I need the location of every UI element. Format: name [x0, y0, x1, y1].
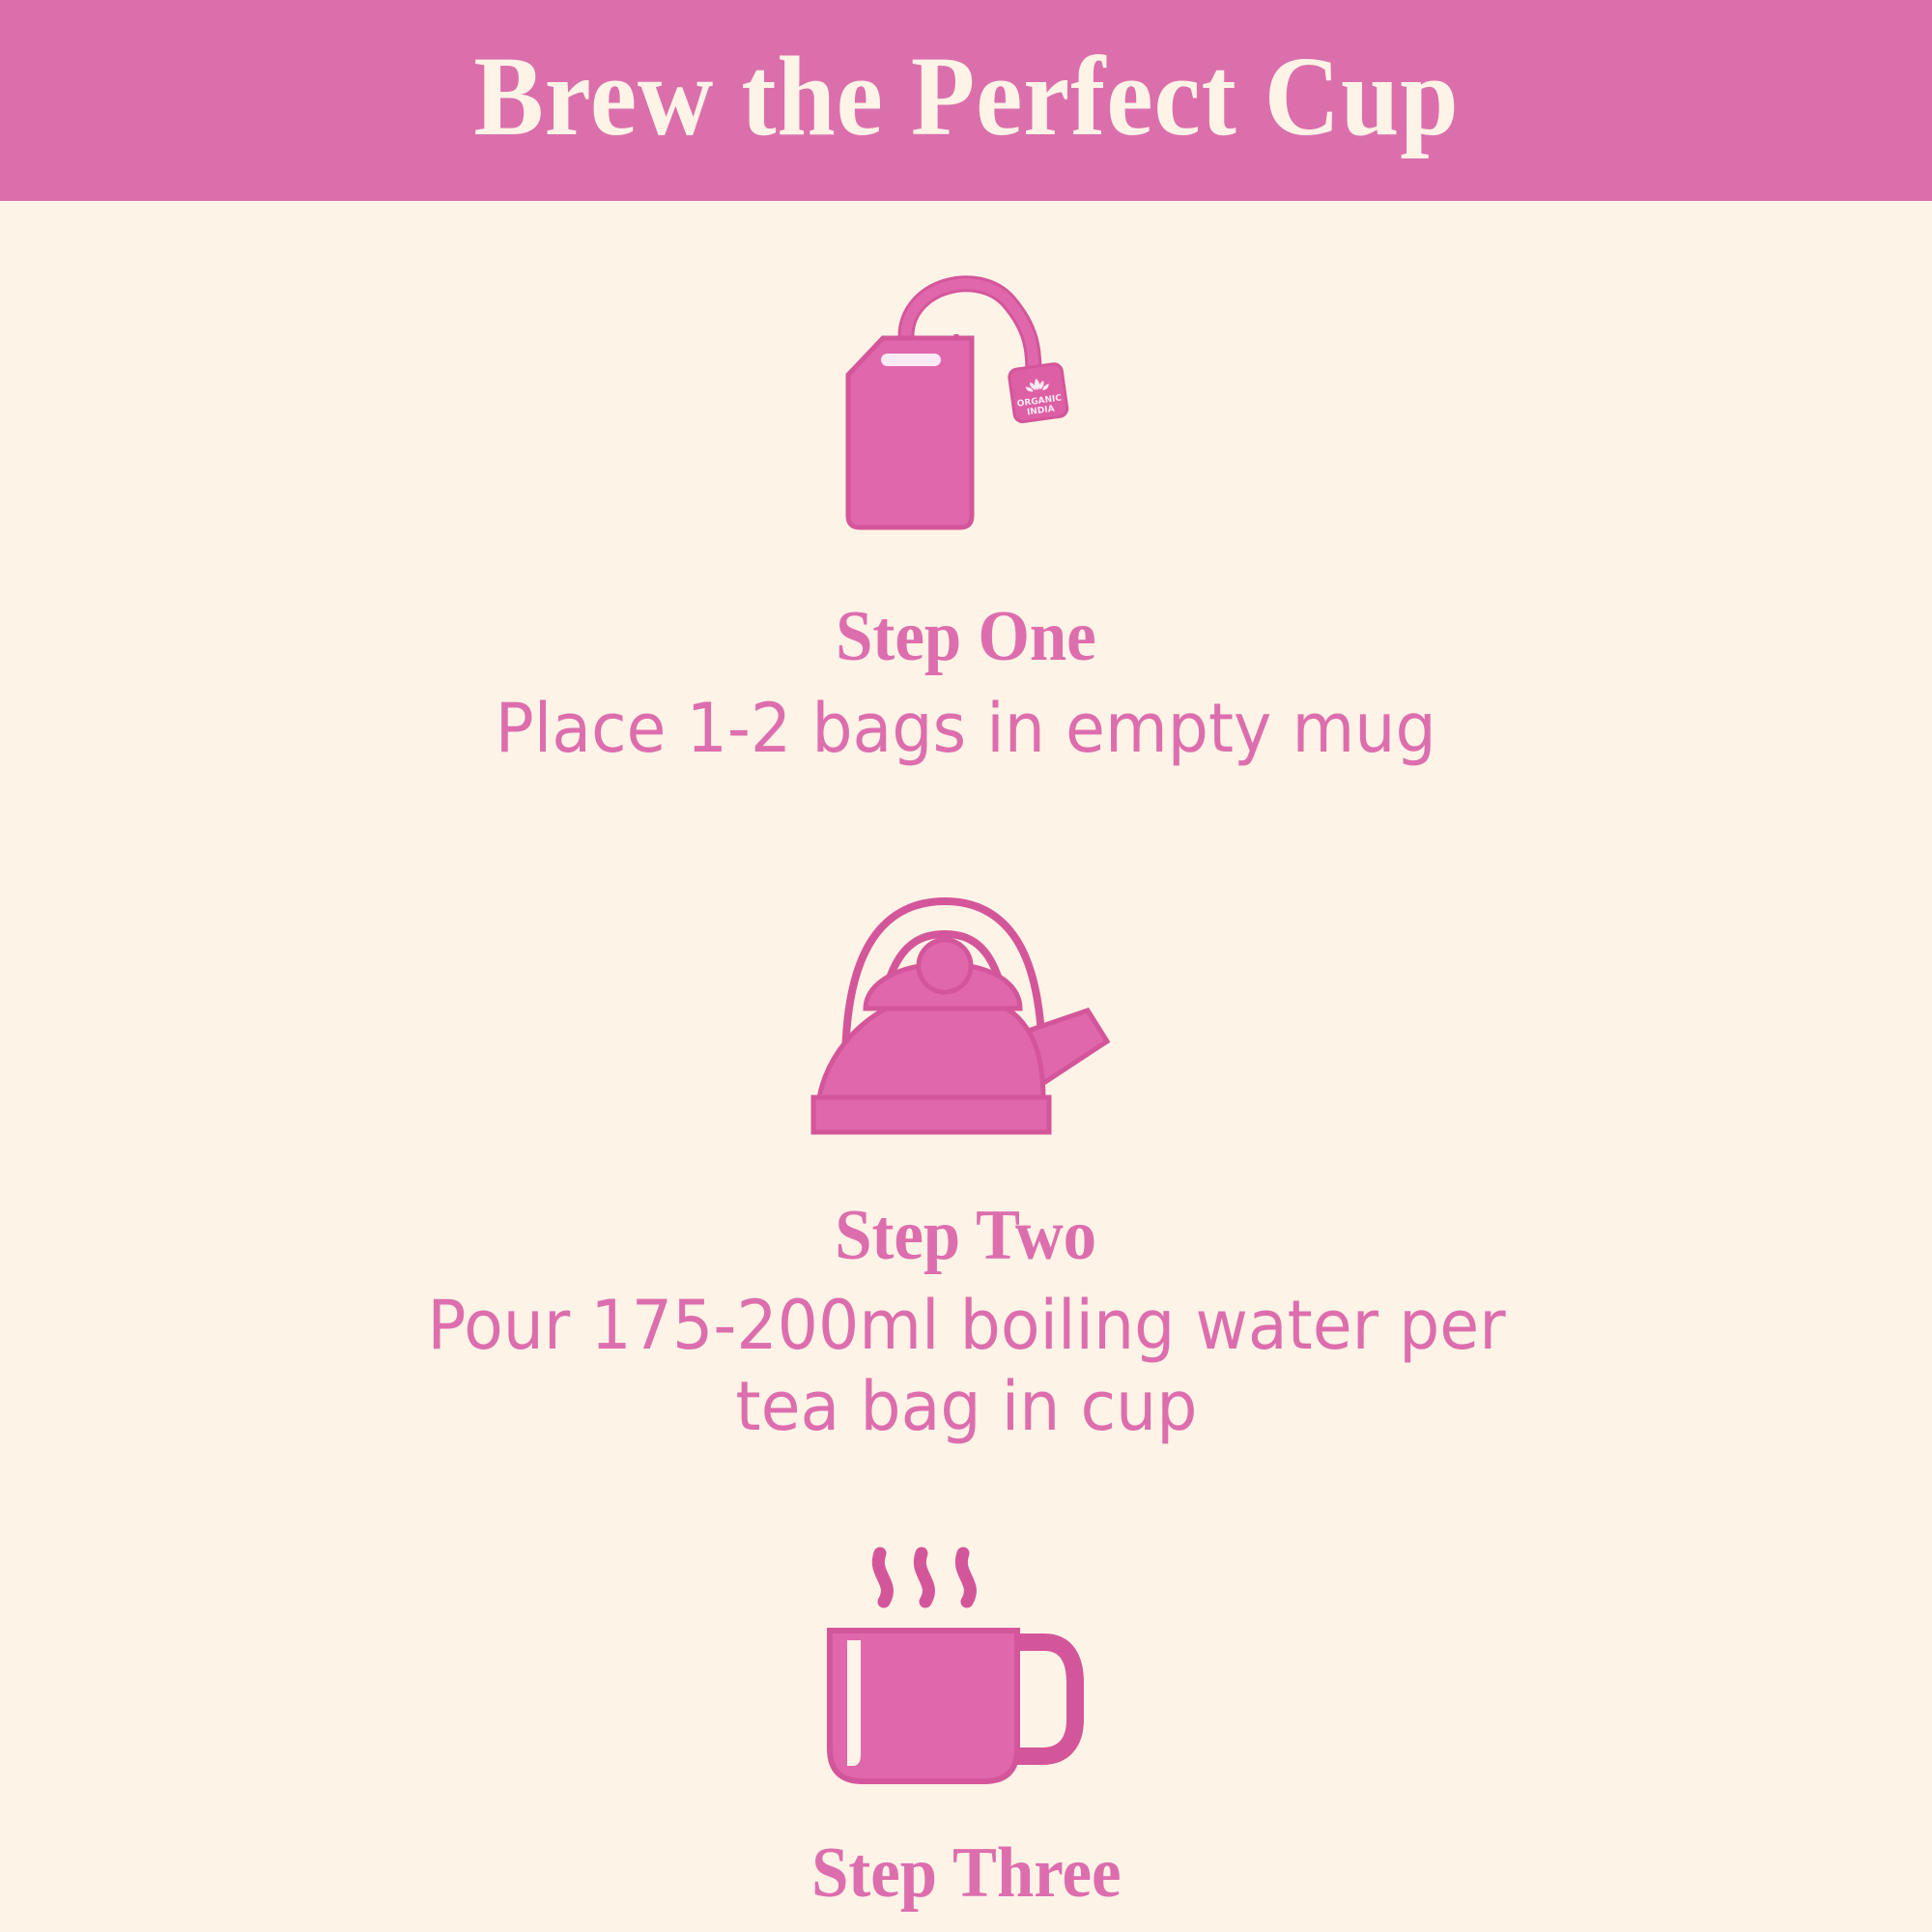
step-item-one: ORGANIC INDIA Step One Place 1-2 bags in… [0, 201, 1932, 769]
header-banner: Brew the Perfect Cup [0, 0, 1932, 201]
step-one-description: Place 1-2 bags in empty mug [496, 688, 1436, 769]
step-item-two: Step Two Pour 175-200ml boiling water pe… [0, 769, 1932, 1447]
steps-list: ORGANIC INDIA Step One Place 1-2 bags in… [0, 201, 1932, 1932]
page-title: Brew the Perfect Cup [473, 40, 1459, 161]
tea-bag-icon: ORGANIC INDIA [802, 261, 1130, 551]
kettle-icon-wrap [802, 895, 1130, 1155]
step-three-title: Step Three [811, 1837, 1122, 1909]
tea-bag-icon-wrap: ORGANIC INDIA [802, 261, 1130, 551]
step-two-description: Pour 175-200ml boiling water pertea bag … [427, 1285, 1505, 1447]
steaming-mug-icon-wrap [816, 1522, 1116, 1793]
steaming-mug-icon [816, 1522, 1116, 1793]
kettle-icon [802, 895, 1130, 1155]
step-one-title: Step One [836, 601, 1096, 672]
brew-instructions-poster: Brew the Perfect Cup [0, 0, 1932, 1932]
step-item-three: Step Three Cover & steep 5-8 minutes [0, 1447, 1932, 1932]
step-three-description: Cover & steep 5-8 minutes [534, 1924, 1398, 1932]
step-two-title: Step Two [836, 1200, 1097, 1271]
